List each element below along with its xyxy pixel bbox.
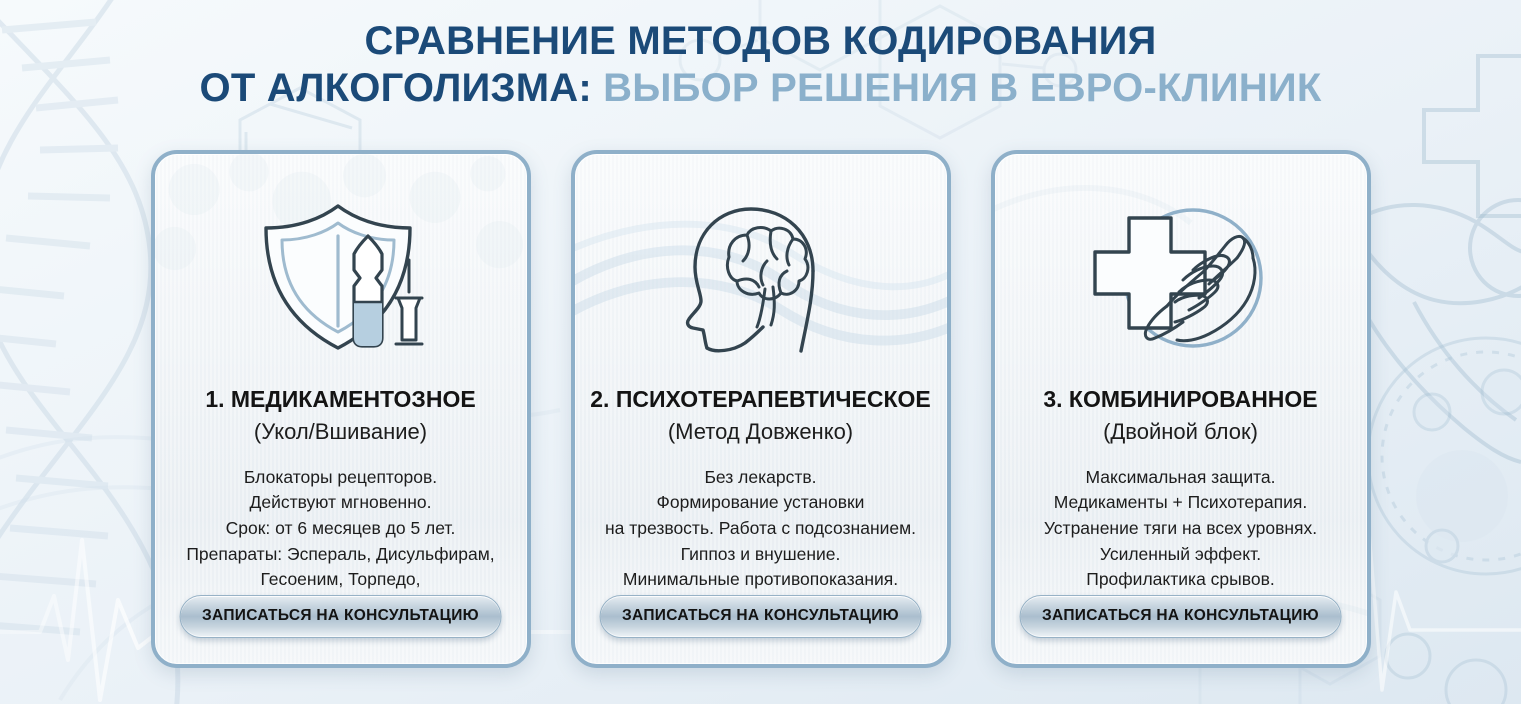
method-card-psihoterapevticheskoe: 2. ПСИХОТЕРАПЕВТИЧЕСКОЕ (Метод Довженко)… (571, 150, 951, 668)
method-cards-row: 1. МЕДИКАМЕНТОЗНОЕ (Укол/Вшивание) Блока… (0, 150, 1521, 670)
infographic-root: СРАВНЕНИЕ МЕТОДОВ КОДИРОВАНИЯ ОТ АЛКОГОЛ… (0, 0, 1521, 704)
method-card-medikamentoznoe: 1. МЕДИКАМЕНТОЗНОЕ (Укол/Вшивание) Блока… (151, 150, 531, 668)
header: СРАВНЕНИЕ МЕТОДОВ КОДИРОВАНИЯ ОТ АЛКОГОЛ… (0, 18, 1521, 112)
card-subtitle: (Укол/Вшивание) (254, 419, 427, 445)
cta-button-consultation[interactable]: ЗАПИСАТЬСЯ НА КОНСУЛЬТАЦИЮ (599, 595, 922, 638)
shield-ampoule-syringe-icon (231, 202, 451, 352)
page-title-line-2-light: ВЫБОР РЕШЕНИЯ В ЕВРО-КЛИНИК (603, 66, 1321, 110)
cta-button-consultation[interactable]: ЗАПИСАТЬСЯ НА КОНСУЛЬТАЦИЮ (179, 595, 502, 638)
card-title: 3. КОМБИНИРОВАННОЕ (1033, 386, 1327, 414)
method-card-kombinirovannoe: 3. КОМБИНИРОВАННОЕ (Двойной блок) Максим… (991, 150, 1371, 668)
card-title: 2. ПСИХОТЕРАПЕВТИЧЕСКОЕ (580, 386, 940, 414)
card-subtitle: (Метод Довженко) (668, 419, 853, 445)
card-title: 1. МЕДИКАМЕНТОЗНОЕ (195, 386, 485, 414)
page-title-line-1: СРАВНЕНИЕ МЕТОДОВ КОДИРОВАНИЯ (0, 18, 1521, 65)
cta-button-consultation[interactable]: ЗАПИСАТЬСЯ НА КОНСУЛЬТАЦИЮ (1019, 595, 1342, 638)
card-subtitle: (Двойной блок) (1103, 419, 1258, 445)
page-title-line-2: ОТ АЛКОГОЛИЗМА: ВЫБОР РЕШЕНИЯ В ЕВРО-КЛИ… (0, 65, 1521, 112)
page-title-line-2-dark: ОТ АЛКОГОЛИЗМА: (200, 66, 592, 110)
head-brain-icon (651, 202, 871, 352)
cross-helping-hands-icon (1071, 202, 1291, 352)
card-body-text: Максимальная защита. Медикаменты + Психо… (1036, 465, 1325, 594)
